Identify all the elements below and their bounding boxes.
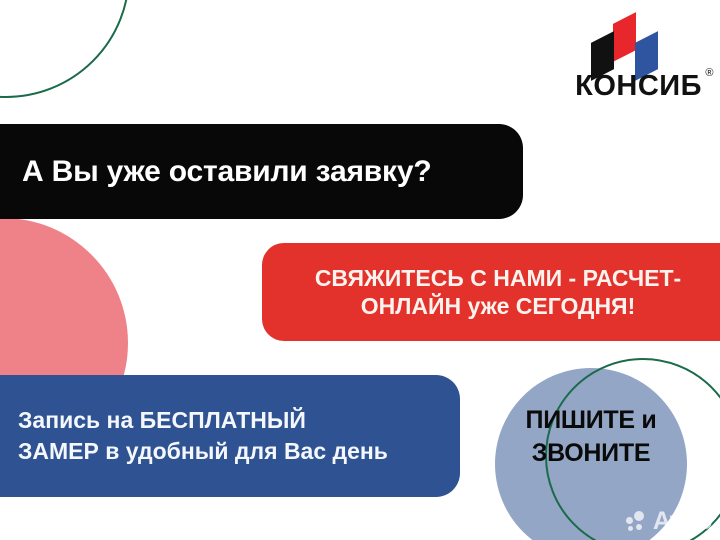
blue-offer-line-1: Запись на БЕСПЛАТНЫЙ: [18, 405, 388, 436]
red-offer-block: СВЯЖИТЕСЬ С НАМИ - РАСЧЕТ- ОНЛАЙН уже СЕ…: [262, 243, 720, 341]
decorative-green-circle-outline-top-left: [0, 0, 130, 98]
blue-offer-text: Запись на БЕСПЛАТНЫЙ ЗАМЕР в удобный для…: [18, 405, 388, 467]
avito-watermark-text: Avito: [653, 509, 712, 534]
red-offer-text: СВЯЖИТЕСЬ С НАМИ - РАСЧЕТ- ОНЛАЙН уже СЕ…: [284, 264, 712, 320]
logo-parallelogram-red-icon: [613, 12, 636, 62]
promo-banner: КОНСИБ ® А Вы уже оставили заявку? СВЯЖИ…: [0, 0, 720, 540]
logo-mark-icon: [556, 18, 702, 70]
blue-offer-block: Запись на БЕСПЛАТНЫЙ ЗАМЕР в удобный для…: [0, 375, 460, 497]
call-to-action-text: ПИШИТЕ и ЗВОНИТЕ: [495, 404, 687, 469]
headline-text: А Вы уже оставили заявку?: [22, 155, 431, 189]
avito-dots-icon: [626, 511, 652, 533]
company-logo: КОНСИБ ®: [556, 18, 702, 101]
headline-block: А Вы уже оставили заявку?: [0, 124, 523, 219]
logo-wordmark: КОНСИБ ®: [575, 72, 702, 101]
registered-trademark-icon: ®: [705, 68, 714, 79]
call-to-action-line-2: ЗВОНИТЕ: [495, 437, 687, 470]
blue-offer-line-2: ЗАМЕР в удобный для Вас день: [18, 436, 388, 467]
logo-wordmark-text: КОНСИБ: [575, 70, 702, 102]
avito-watermark: Avito: [626, 509, 712, 534]
call-to-action-line-1: ПИШИТЕ и: [495, 404, 687, 437]
red-offer-line-1: СВЯЖИТЕСЬ С НАМИ - РАСЧЕТ-: [284, 264, 712, 292]
red-offer-line-2: ОНЛАЙН уже СЕГОДНЯ!: [284, 292, 712, 320]
